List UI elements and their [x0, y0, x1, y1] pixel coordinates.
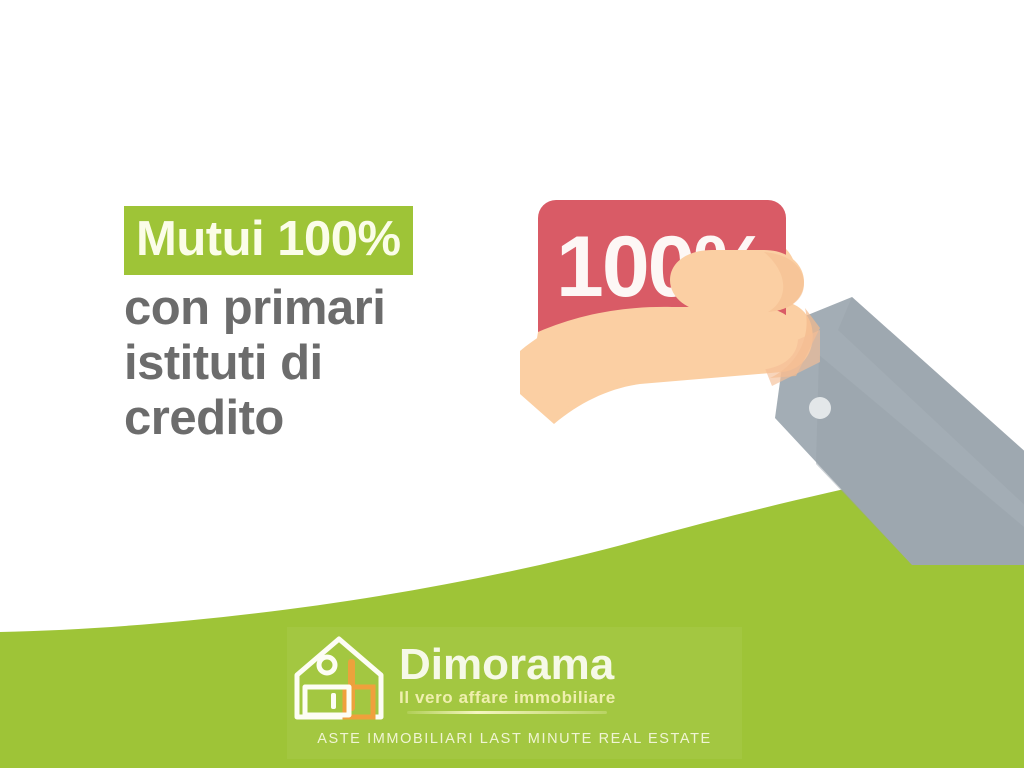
logo-footer-text: ASTE IMMOBILIARI LAST MINUTE REAL ESTATE: [287, 731, 742, 747]
banner-canvas: Mutui 100% con primari istituti di credi…: [0, 0, 1024, 768]
headline-badge: Mutui 100%: [124, 206, 413, 275]
headline-subtext: con primari istituti di credito: [124, 281, 524, 446]
logo-wordmark: Dimorama Il vero affare immobiliare: [399, 641, 616, 714]
house-icon: [287, 631, 391, 723]
headline-block: Mutui 100% con primari istituti di credi…: [124, 206, 524, 446]
logo-primary-row: Dimorama Il vero affare immobiliare: [287, 631, 742, 723]
logo-tagline: Il vero affare immobiliare: [399, 689, 616, 706]
logo-name: Dimorama: [399, 643, 616, 687]
headline-line-2: istituti di: [124, 336, 524, 391]
cuff-button-icon: [809, 397, 831, 419]
headline-line-1: con primari: [124, 281, 524, 336]
dimorama-logo: Dimorama Il vero affare immobiliare ASTE…: [287, 627, 742, 759]
hand-holding-card-illustration: 100%: [520, 180, 1024, 560]
headline-line-3: credito: [124, 391, 524, 446]
logo-underline-rule: [407, 711, 607, 714]
